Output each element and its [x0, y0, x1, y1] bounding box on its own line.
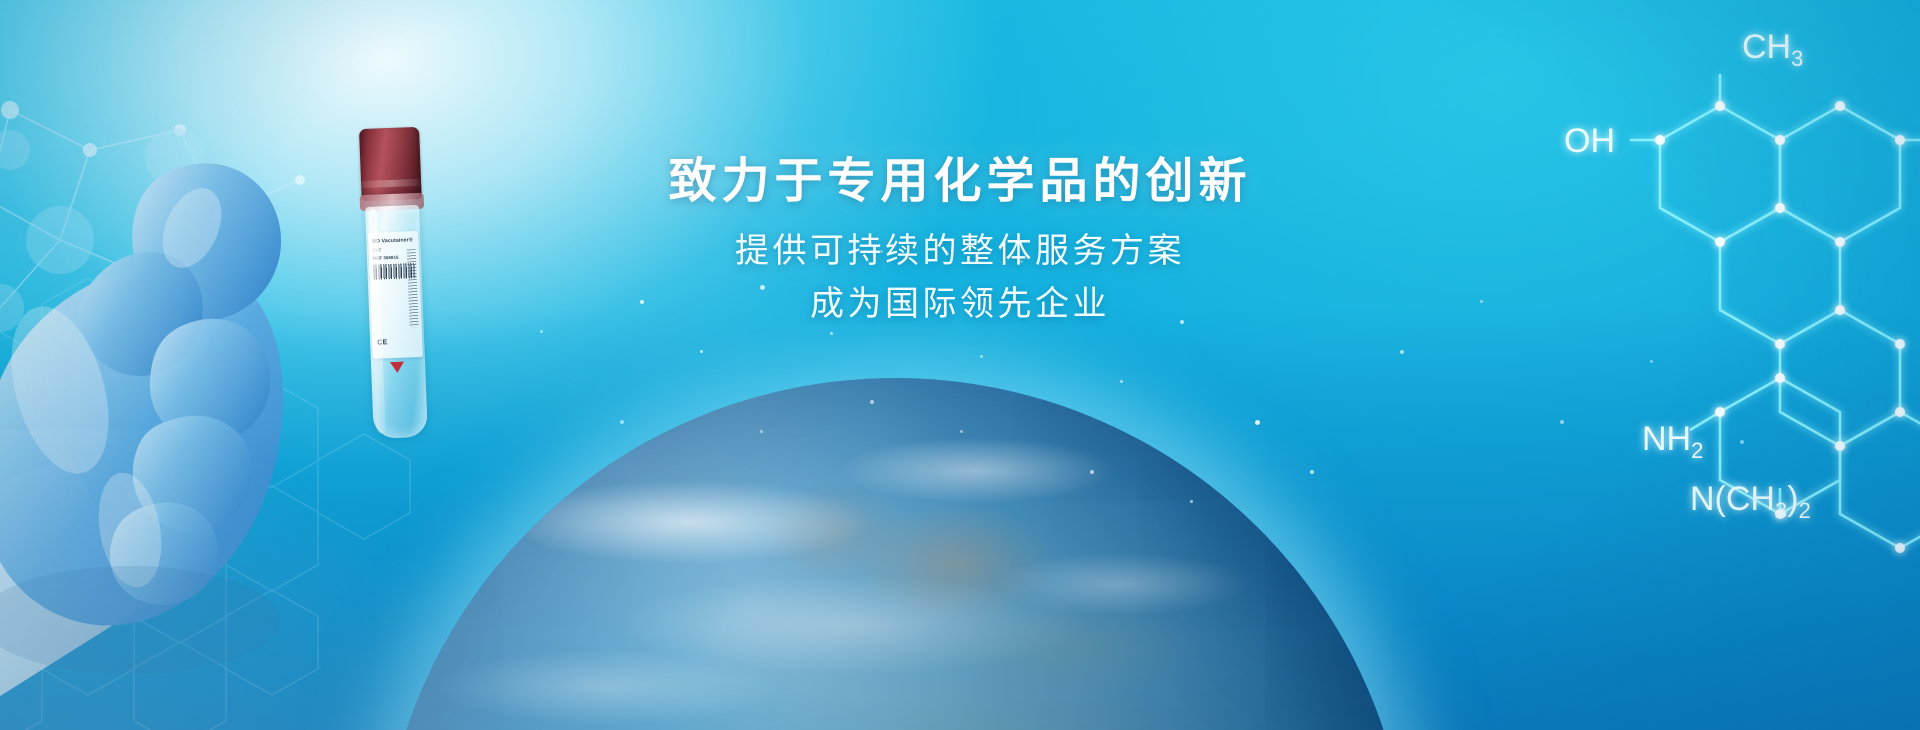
hero-copy: 致力于专用化学品的创新 提供可持续的整体服务方案 成为国际领先企业: [0, 155, 1920, 332]
subtitle-line-1: 提供可持续的整体服务方案: [0, 225, 1920, 279]
hero-banner: BD Vacutainer® CAT REF 368815 CE: [0, 0, 1920, 730]
vignette-overlay: [0, 0, 1920, 730]
subtitle-line-2: 成为国际领先企业: [0, 278, 1920, 332]
page-title: 致力于专用化学品的创新: [0, 155, 1920, 209]
